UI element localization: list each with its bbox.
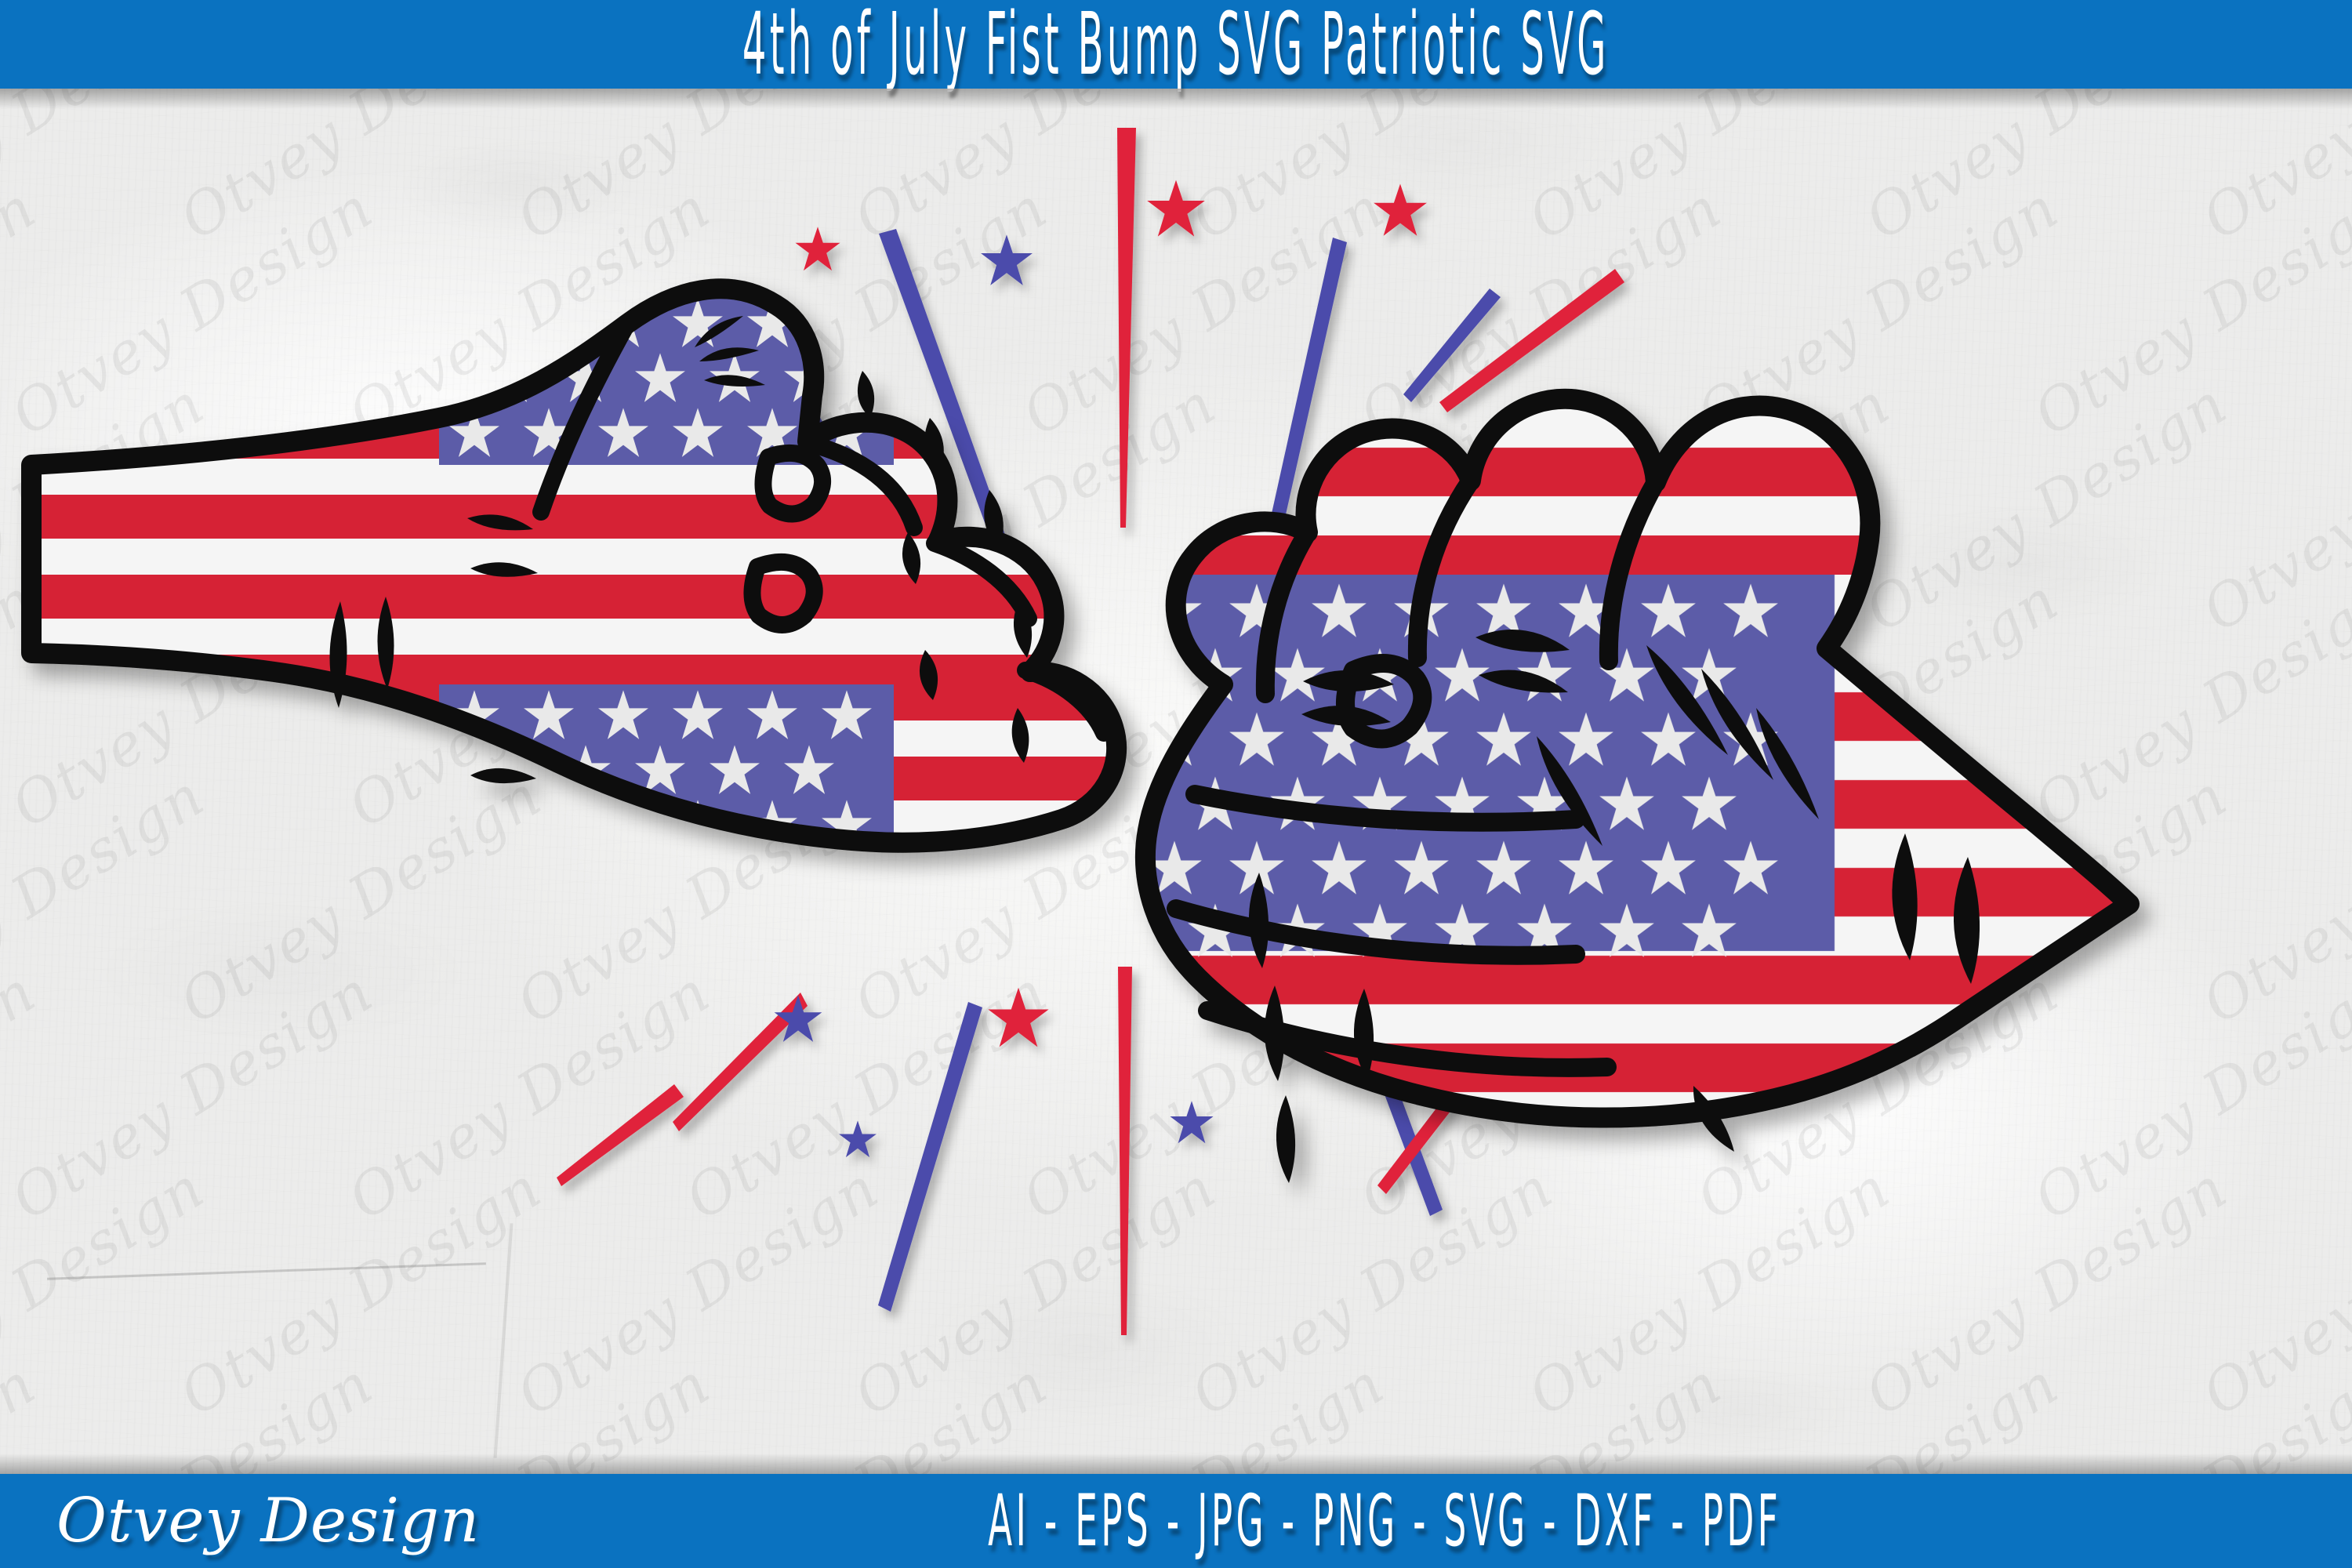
burst-star-blue	[981, 234, 1033, 285]
burst-star-red	[1147, 180, 1205, 237]
burst-ray-red	[1117, 128, 1136, 528]
left-fist-body	[31, 289, 1116, 842]
burst-star-blue	[1170, 1101, 1213, 1143]
left-fist-flag	[31, 289, 1116, 842]
burst-ray-red	[1118, 967, 1132, 1335]
burst-star-red	[988, 988, 1048, 1047]
brand-logo: Otvey Design	[56, 1490, 480, 1552]
header-bar: 4th of July Fist Bump SVG Patriotic SVG	[0, 0, 2352, 89]
burst-ray-blue	[1403, 289, 1501, 402]
poster-canvas: Otvey DesignOtvey DesignOtvey DesignOtve…	[0, 0, 2352, 1568]
burst-ray-red	[557, 1084, 684, 1186]
burst-ray-red	[1439, 269, 1624, 412]
burst-star-blue	[839, 1120, 877, 1157]
file-formats-list: AI - EPS - JPG - PNG - SVG - DXF - PDF	[989, 1486, 1844, 1557]
footer-bar: Otvey Design AI - EPS - JPG - PNG - SVG …	[0, 1474, 2352, 1568]
burst-ray-blue	[878, 1002, 982, 1312]
page-title: 4th of July Fist Bump SVG Patriotic SVG	[742, 1, 1610, 87]
fist-bump-artwork	[0, 89, 2352, 1474]
burst-star-red	[795, 227, 840, 270]
burst-star-red	[1374, 183, 1427, 235]
right-fist-flag	[1145, 399, 2129, 1183]
